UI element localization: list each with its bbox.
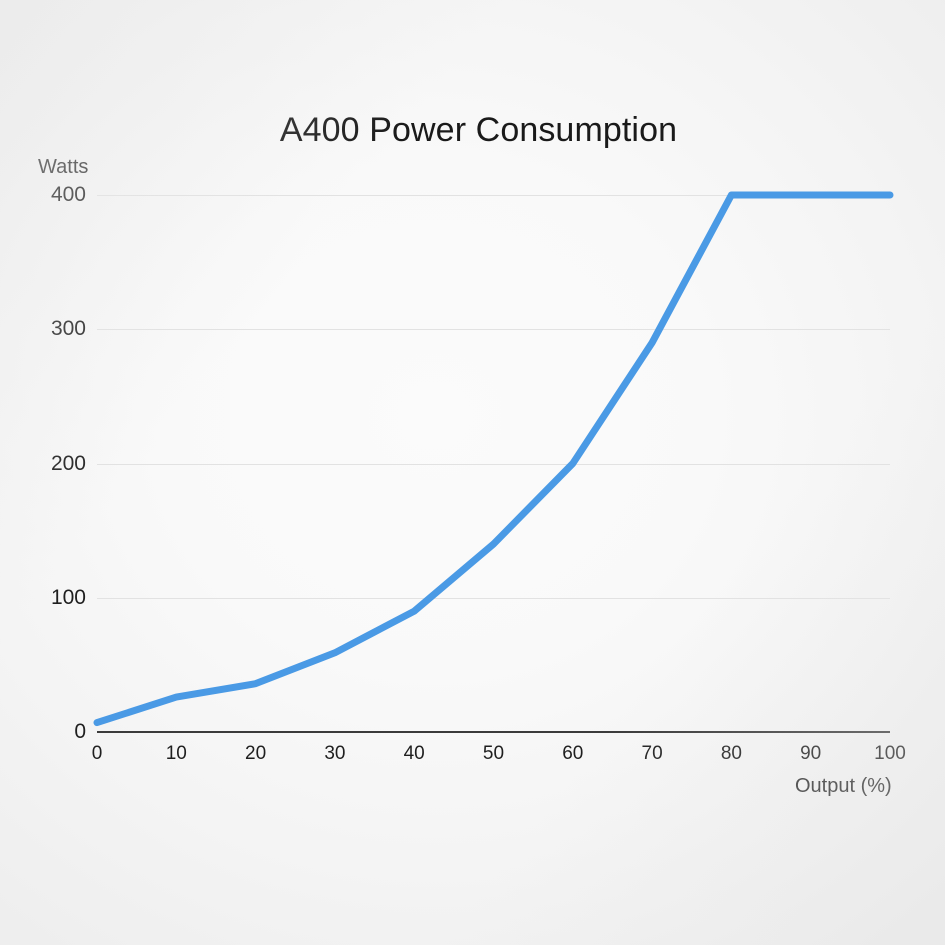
series-line-a400-power [97, 195, 890, 723]
plot-area: 0100200300400 0102030405060708090100 [0, 0, 945, 945]
chart-canvas: A400 Power Consumption Watts 01002003004… [0, 0, 945, 945]
series-layer [0, 0, 945, 945]
x-axis-title: Output (%) [795, 775, 892, 798]
